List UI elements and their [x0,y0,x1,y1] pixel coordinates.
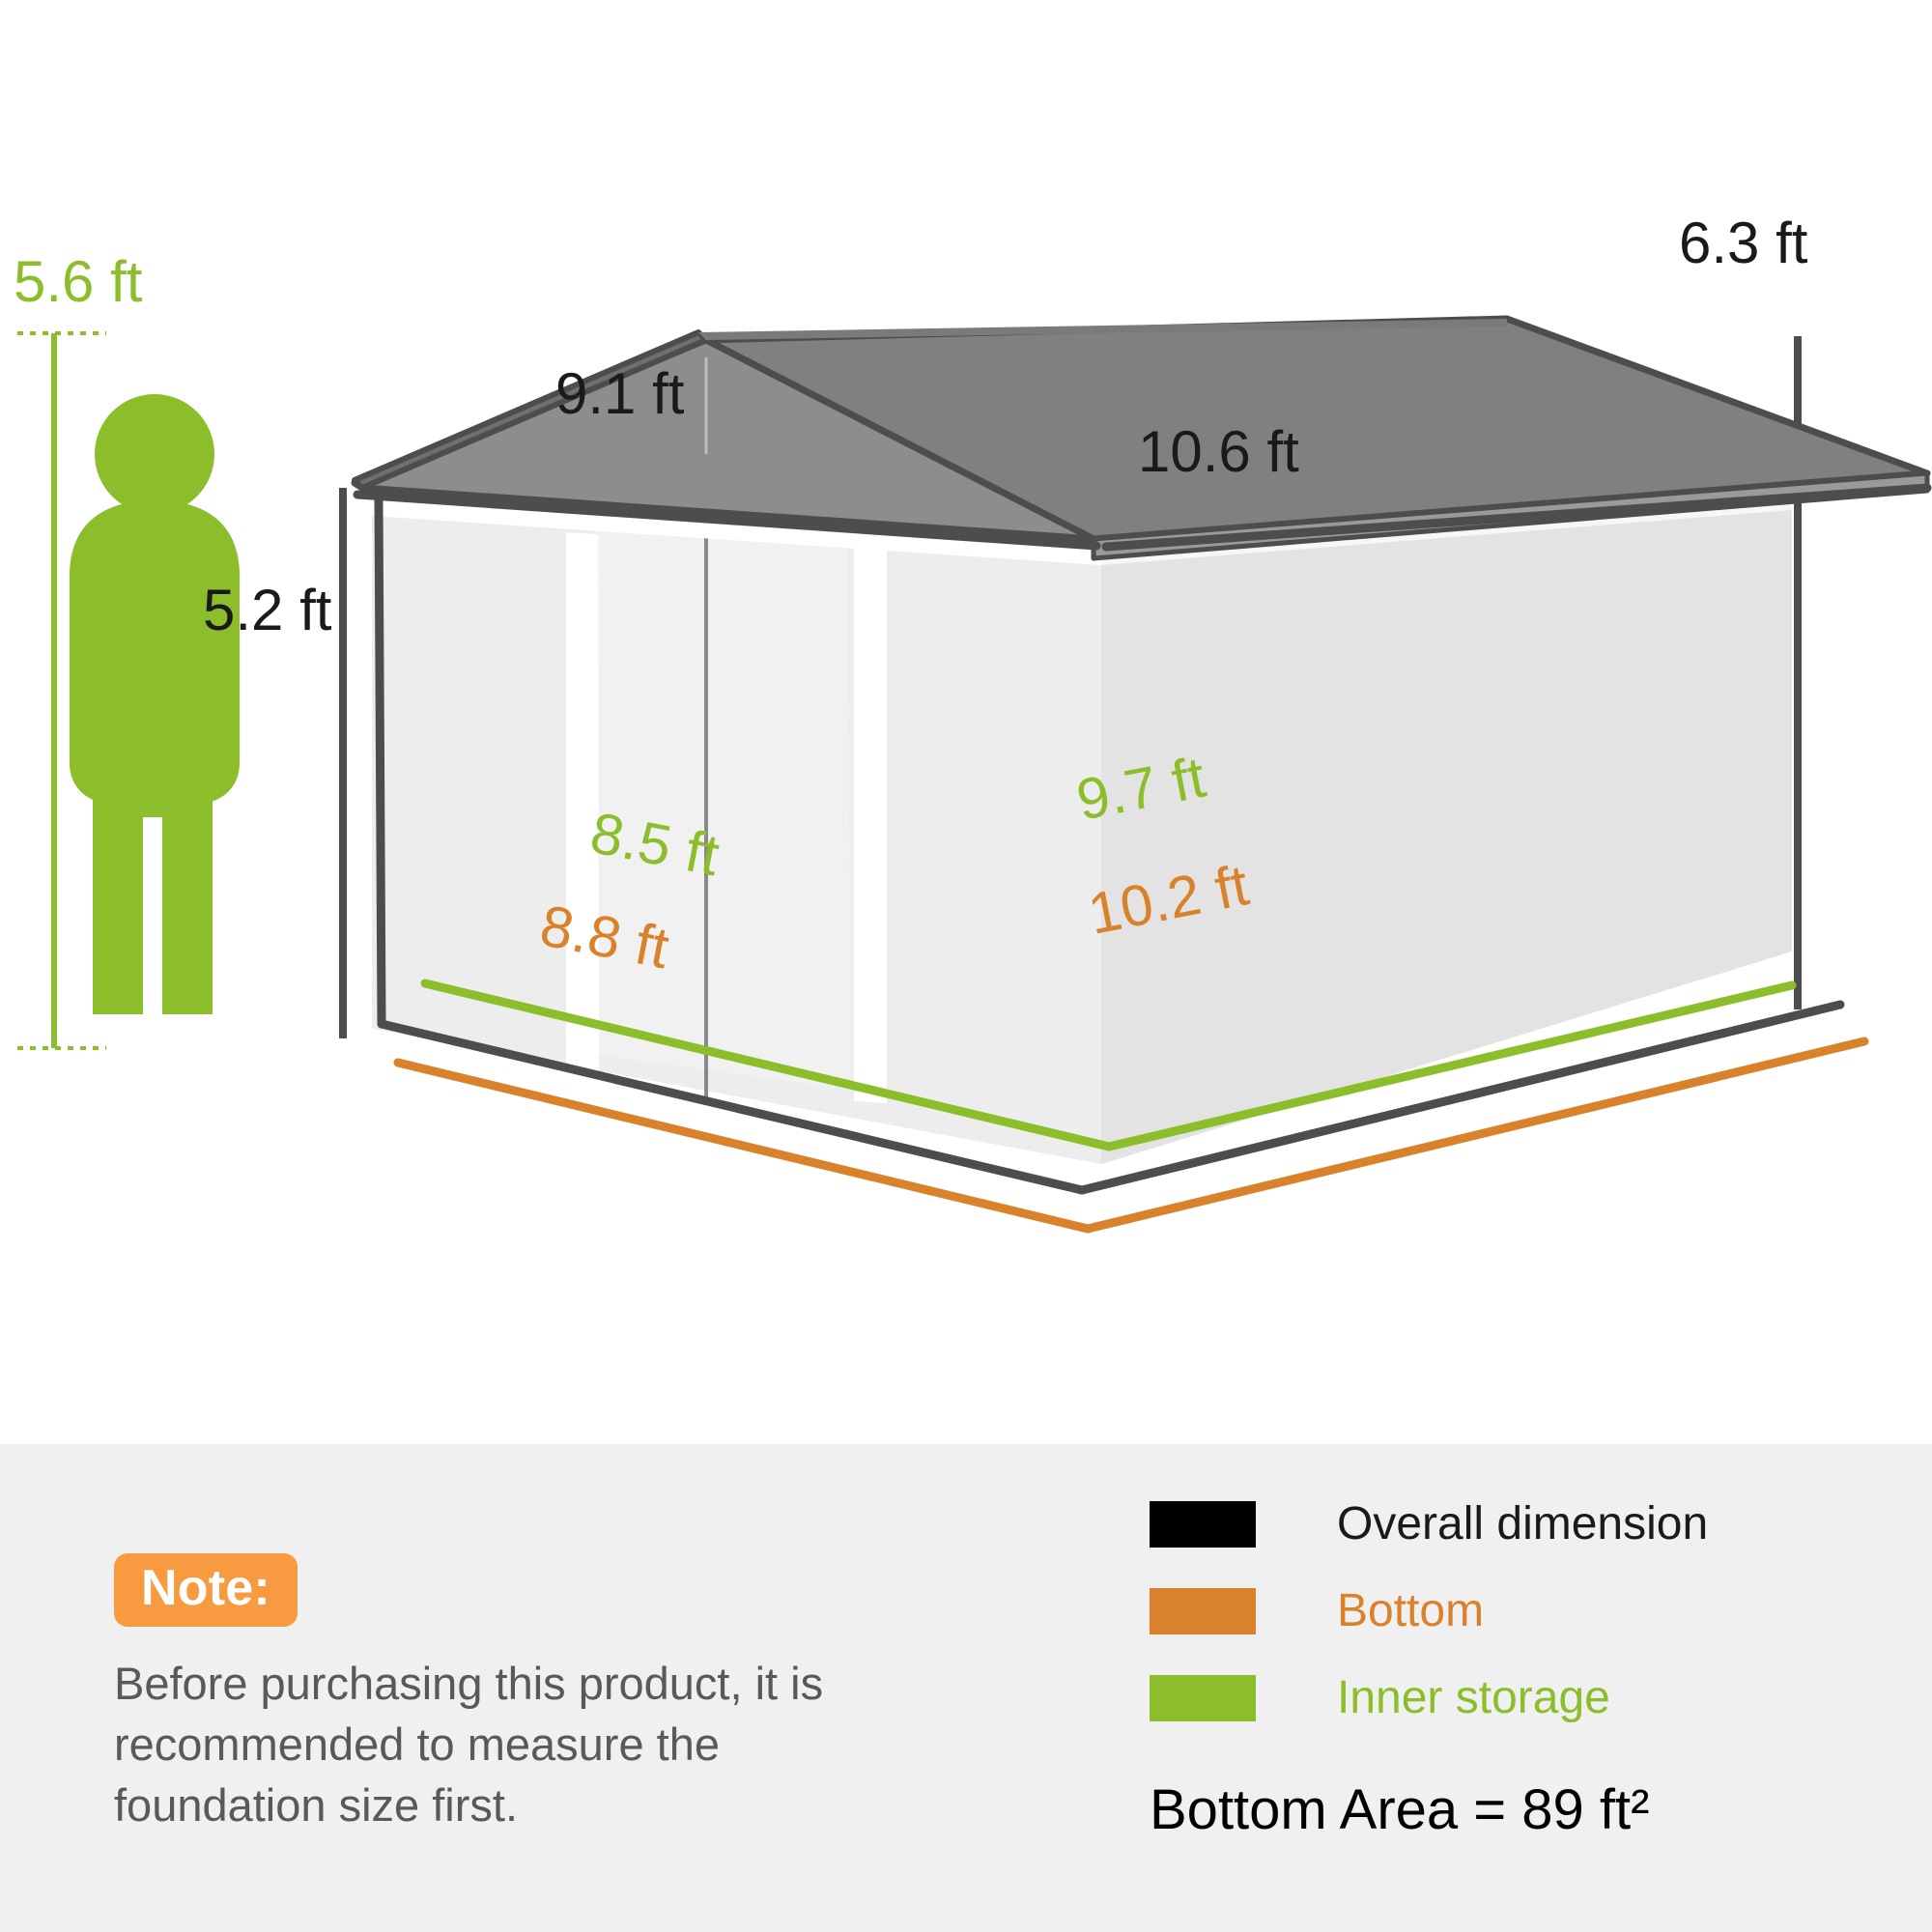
legend-item-overall: Overall dimension [1150,1492,1708,1556]
person-silhouette-icon [70,394,240,1014]
legend-label-inner-storage: Inner storage [1337,1675,1610,1721]
dim-person-height: 5.6 ft [14,253,142,311]
legend-item-inner-storage: Inner storage [1150,1666,1708,1730]
legend-label-overall: Overall dimension [1337,1501,1708,1548]
shed-door-panels [566,498,887,1103]
dim-side-depth: 10.6 ft [1138,423,1299,481]
dimension-diagram-page: 5.6 ft 5.2 ft 6.3 ft 9.1 ft 10.6 ft 8.5 … [0,0,1932,1932]
shed-illustration [0,0,1932,1444]
legend-label-bottom: Bottom [1337,1588,1484,1634]
legend-swatch-overall [1150,1501,1256,1548]
legend-swatch-inner-storage [1150,1675,1256,1721]
legend-swatch-bottom [1150,1588,1256,1634]
legend-item-bottom: Bottom [1150,1579,1708,1643]
bottom-area-total: Bottom Area = 89 ft² [1150,1777,1649,1842]
dim-peak-height: 6.3 ft [1679,214,1807,272]
note-badge: Note: [114,1553,298,1627]
note-text: Before purchasing this product, it is re… [114,1654,848,1836]
dim-wall-height: 5.2 ft [203,582,331,639]
diagram-area: 5.6 ft 5.2 ft 6.3 ft 9.1 ft 10.6 ft 8.5 … [0,0,1932,1444]
dim-front-width: 9.1 ft [555,365,684,423]
legend: Overall dimension Bottom Inner storage [1150,1492,1708,1753]
